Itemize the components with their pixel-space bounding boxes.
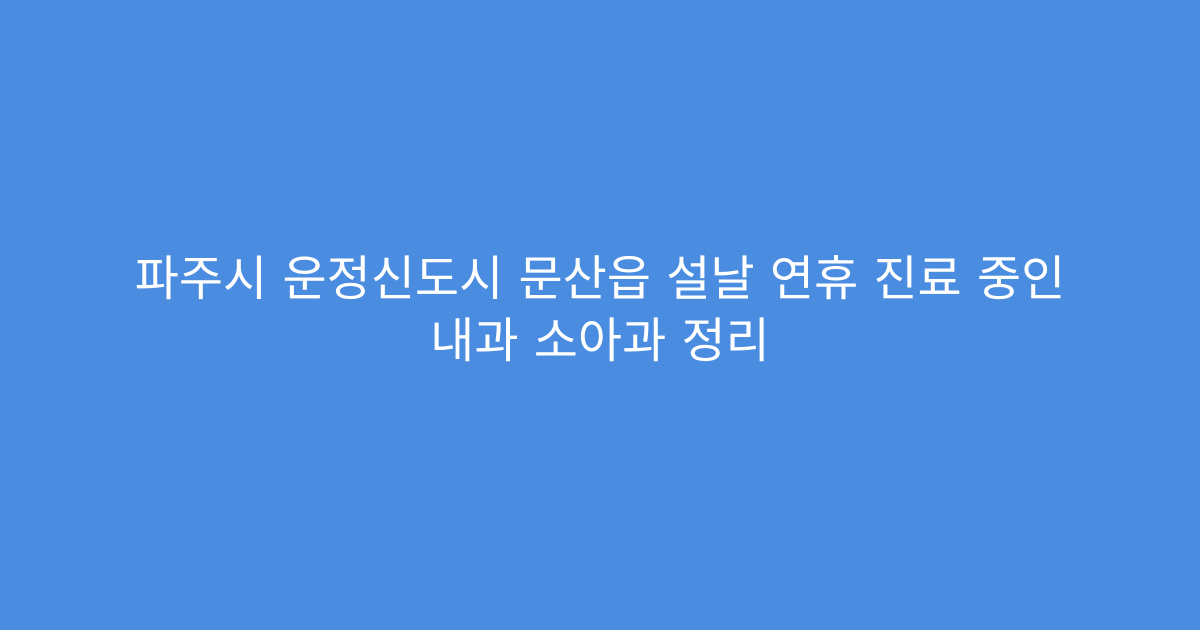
og-image-card: 파주시 운정신도시 문산읍 설날 연휴 진료 중인 내과 소아과 정리 — [0, 0, 1200, 630]
page-title: 파주시 운정신도시 문산읍 설날 연휴 진료 중인 내과 소아과 정리 — [80, 248, 1120, 372]
